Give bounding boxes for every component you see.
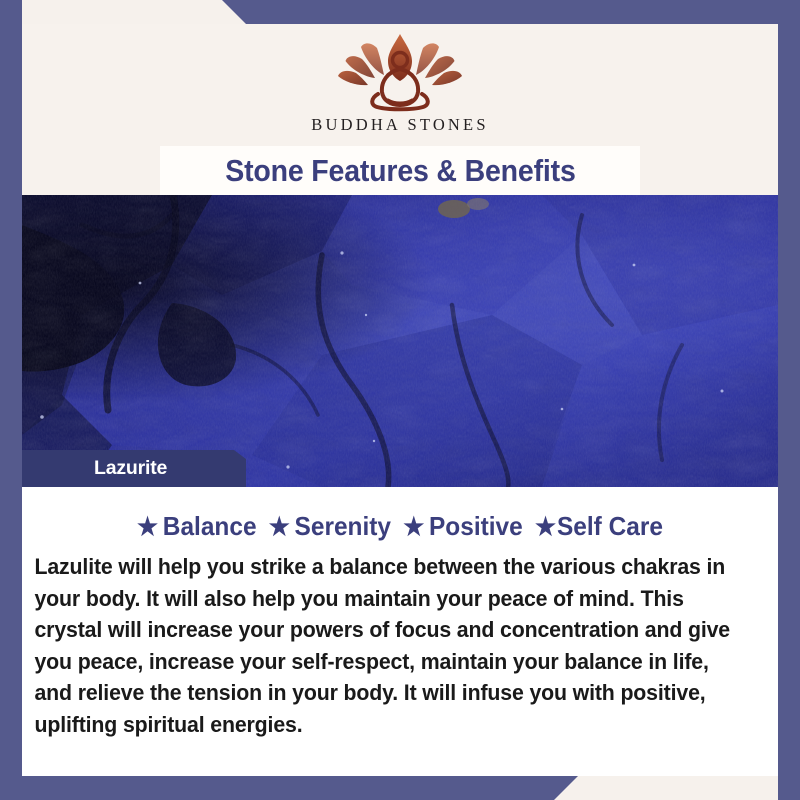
- decorative-band-top-right: [0, 0, 800, 24]
- content-panel: ★Balance★Serenity★Positive★Self Care Laz…: [22, 487, 778, 776]
- stone-photo: [22, 195, 778, 487]
- decorative-band-bottom-left: [0, 776, 800, 800]
- decorative-band-right: [778, 0, 800, 800]
- decorative-band-left: [0, 0, 22, 800]
- stone-description: Lazulite will help you strike a balance …: [22, 551, 748, 740]
- title-strip: Stone Features & Benefits: [160, 146, 640, 195]
- benefit-label: Serenity: [295, 511, 391, 541]
- benefits-row: ★Balance★Serenity★Positive★Self Care: [45, 511, 756, 542]
- benefit-item-positive: ★Positive: [403, 511, 523, 542]
- benefit-label: Self Care: [557, 511, 663, 541]
- lazurite-rock-image: [22, 195, 778, 487]
- lotus-meditation-icon: [325, 30, 475, 114]
- benefit-item-self-care: ★Self Care: [535, 511, 663, 542]
- stone-name-label: Lazurite: [94, 457, 167, 480]
- benefit-label: Balance: [163, 511, 257, 541]
- benefit-label: Positive: [429, 511, 523, 541]
- page-title: Stone Features & Benefits: [225, 153, 575, 189]
- brand-name: BUDDHA STONES: [311, 115, 488, 135]
- star-icon: ★: [403, 513, 424, 541]
- star-icon: ★: [137, 513, 158, 541]
- brand-logo: BUDDHA STONES: [22, 30, 778, 135]
- benefit-item-serenity: ★Serenity: [269, 511, 391, 542]
- star-icon: ★: [269, 513, 290, 541]
- star-icon: ★: [535, 513, 556, 541]
- poster: BUDDHA STONES Stone Features & Benefits: [0, 0, 800, 800]
- benefit-item-balance: ★Balance: [137, 511, 257, 542]
- stone-name-tab: Lazurite: [22, 450, 246, 487]
